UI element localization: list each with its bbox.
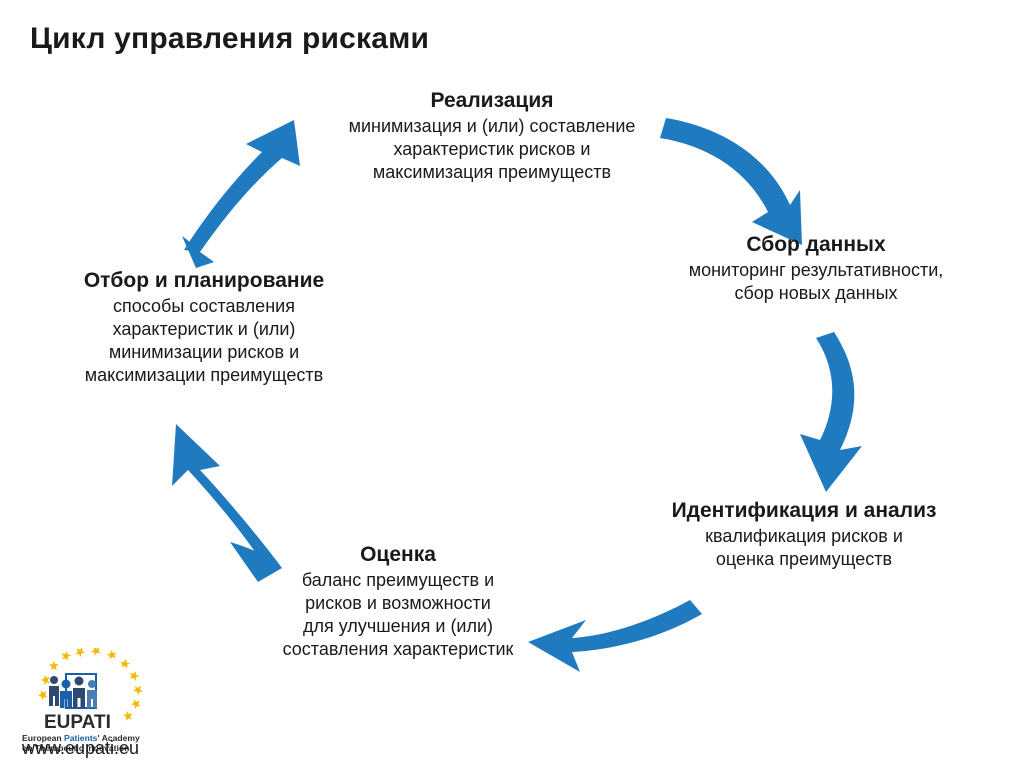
slide-canvas: Цикл управления рисками Реализация миним…: [0, 0, 1024, 768]
cycle-node-implementation: Реализация минимизация и (или) составлен…: [282, 88, 702, 184]
node-desc-line: максимизация преимуществ: [282, 161, 702, 184]
node-desc-line: рисков и возможности: [238, 592, 558, 615]
node-desc-line: для улучшения и (или): [238, 615, 558, 638]
node-heading: Реализация: [282, 88, 702, 113]
node-heading: Оценка: [238, 542, 558, 567]
node-desc-line: составления характеристик: [238, 638, 558, 661]
node-desc-line: оценка преимуществ: [614, 548, 994, 571]
node-heading: Идентификация и анализ: [614, 498, 994, 523]
eupati-logo: EUPATI European Patients' Academy on The…: [18, 648, 228, 752]
logo-url: www.eupati.eu: [22, 738, 139, 759]
node-desc-line: мониторинг результативности,: [648, 259, 984, 282]
cycle-node-evaluation: Оценка баланс преимуществ и рисков и воз…: [238, 542, 558, 661]
node-desc-line: минимизации рисков и: [18, 341, 390, 364]
node-desc-line: квалификация рисков и: [614, 525, 994, 548]
cycle-node-data-collection: Сбор данных мониторинг результативности,…: [648, 232, 984, 305]
node-desc-line: характеристик рисков и: [282, 138, 702, 161]
cycle-node-selection-planning: Отбор и планирование способы составления…: [18, 268, 390, 387]
arrow-data-collection-to-identification: [800, 332, 862, 492]
node-desc-line: характеристик и (или): [18, 318, 390, 341]
node-desc-line: максимизации преимуществ: [18, 364, 390, 387]
node-desc-line: баланс преимуществ и: [238, 569, 558, 592]
node-desc-line: способы составления: [18, 295, 390, 318]
cycle-node-identification-analysis: Идентификация и анализ квалификация риск…: [614, 498, 994, 571]
node-desc-line: минимизация и (или) составление: [282, 115, 702, 138]
node-desc-line: сбор новых данных: [648, 282, 984, 305]
node-heading: Отбор и планирование: [18, 268, 390, 293]
logo-wordmark: EUPATI: [44, 712, 111, 733]
node-heading: Сбор данных: [648, 232, 984, 257]
people-building-icon: [49, 674, 97, 708]
